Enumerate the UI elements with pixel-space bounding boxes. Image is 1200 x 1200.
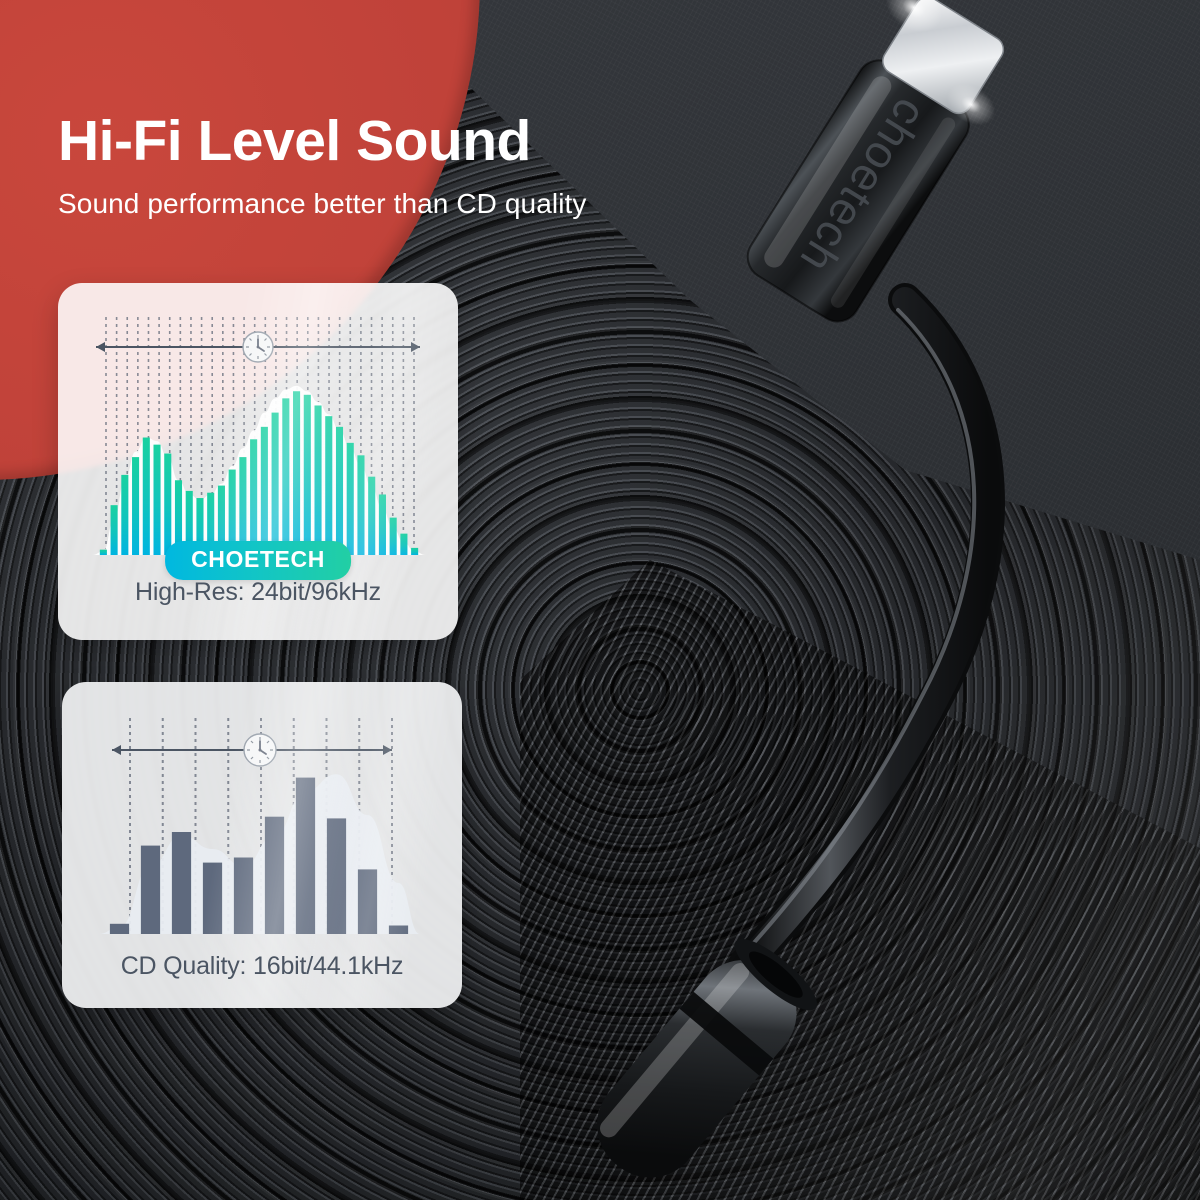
high-res-caption: High-Res: 24bit/96kHz bbox=[58, 578, 458, 607]
cd-quality-caption: CD Quality: 16bit/44.1kHz bbox=[62, 952, 462, 981]
chart-bar bbox=[203, 863, 222, 934]
chart-bar bbox=[379, 494, 386, 555]
cd-quality-card: CD Quality: 16bit/44.1kHz bbox=[62, 682, 462, 1008]
chart-bar bbox=[164, 454, 171, 555]
signal-envelope bbox=[92, 386, 426, 555]
chart-bar bbox=[111, 505, 118, 555]
chart-bar bbox=[234, 858, 253, 935]
chart-bar bbox=[314, 405, 321, 555]
product-marketing-image: Hi-Fi Level Sound Sound performance bett… bbox=[0, 0, 1200, 1200]
chart-bar bbox=[411, 548, 418, 555]
chart-bar bbox=[327, 818, 346, 934]
chart-bar bbox=[110, 924, 129, 934]
chart-bar bbox=[296, 778, 315, 934]
chart-bar bbox=[265, 817, 284, 934]
chart-bar bbox=[272, 413, 279, 555]
clock-icon bbox=[244, 734, 276, 766]
chart-bar bbox=[132, 457, 139, 555]
chart-bar bbox=[172, 832, 191, 934]
chart-bar bbox=[389, 926, 408, 935]
chart-bar bbox=[390, 518, 397, 555]
chart-bar bbox=[121, 475, 128, 555]
chart-bar bbox=[357, 455, 364, 555]
chart-bar bbox=[261, 427, 268, 555]
chart-bar bbox=[304, 395, 311, 555]
chart-bar bbox=[358, 869, 377, 934]
chart-bar bbox=[325, 416, 332, 555]
chart-bar bbox=[293, 391, 300, 555]
chart-bar bbox=[141, 846, 160, 934]
chart-bar bbox=[400, 534, 407, 555]
clock-icon bbox=[243, 332, 273, 362]
chart-bar bbox=[143, 438, 150, 555]
chart-bar bbox=[250, 439, 257, 555]
chart-bar bbox=[336, 427, 343, 555]
chart-bar bbox=[368, 477, 375, 555]
chart-bar bbox=[100, 550, 107, 555]
page-title: Hi-Fi Level Sound bbox=[58, 112, 818, 172]
page-subtitle: Sound performance better than CD quality bbox=[58, 188, 818, 220]
choetech-badge: CHOETECH bbox=[165, 541, 351, 580]
chart-bar bbox=[153, 445, 160, 555]
chart-bar bbox=[347, 443, 354, 555]
chart-bar bbox=[282, 398, 289, 555]
headline-block: Hi-Fi Level Sound Sound performance bett… bbox=[58, 112, 818, 220]
high-res-card: CHOETECH High-Res: 24bit/96kHz bbox=[58, 283, 458, 640]
